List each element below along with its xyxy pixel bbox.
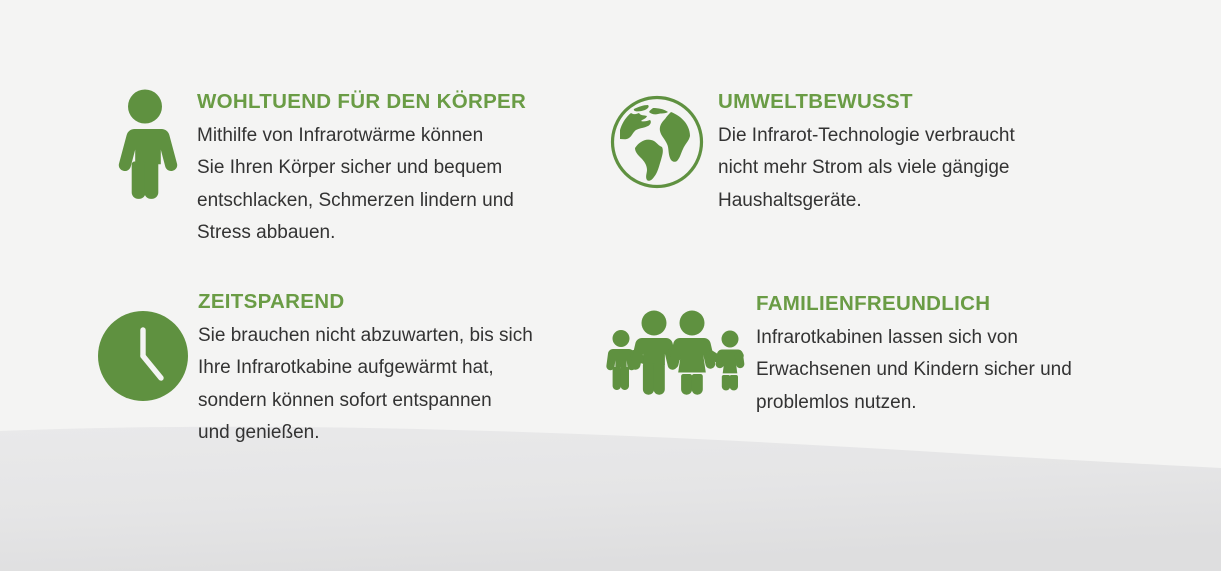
feature-body-line: problemlos nutzen. bbox=[756, 387, 1221, 420]
feature-grid: WOHLTUEND FÜR DEN KÖRPER Mithilfe von In… bbox=[0, 0, 1221, 571]
family-icon bbox=[596, 292, 756, 404]
feature-body-line: Infrarotkabinen lassen sich von bbox=[756, 322, 1221, 355]
feature-text-block: UMWELTBEWUSST Die Infrarot-Technologie v… bbox=[718, 88, 1221, 217]
feature-body-line: Die Infrarot-Technologie verbraucht bbox=[718, 120, 1221, 153]
globe-icon bbox=[596, 88, 718, 192]
feature-title: FAMILIENFREUNDLICH bbox=[756, 292, 1221, 316]
feature-card-familienfreundlich: FAMILIENFREUNDLICH Infrarotkabinen lasse… bbox=[0, 290, 1221, 571]
feature-body-line: Erwachsenen und Kindern sicher und bbox=[756, 354, 1221, 387]
feature-card-umweltbewusst: UMWELTBEWUSST Die Infrarot-Technologie v… bbox=[0, 0, 1221, 290]
feature-body: Die Infrarot-Technologie verbraucht nich… bbox=[718, 120, 1221, 218]
feature-text-block: FAMILIENFREUNDLICH Infrarotkabinen lasse… bbox=[756, 292, 1221, 419]
feature-section: WOHLTUEND FÜR DEN KÖRPER Mithilfe von In… bbox=[0, 0, 1221, 571]
feature-title: UMWELTBEWUSST bbox=[718, 90, 1221, 114]
feature-body-line: nicht mehr Strom als viele gängige bbox=[718, 152, 1221, 185]
feature-body: Infrarotkabinen lassen sich von Erwachse… bbox=[756, 322, 1221, 420]
feature-body-line: Haushaltsgeräte. bbox=[718, 185, 1221, 218]
